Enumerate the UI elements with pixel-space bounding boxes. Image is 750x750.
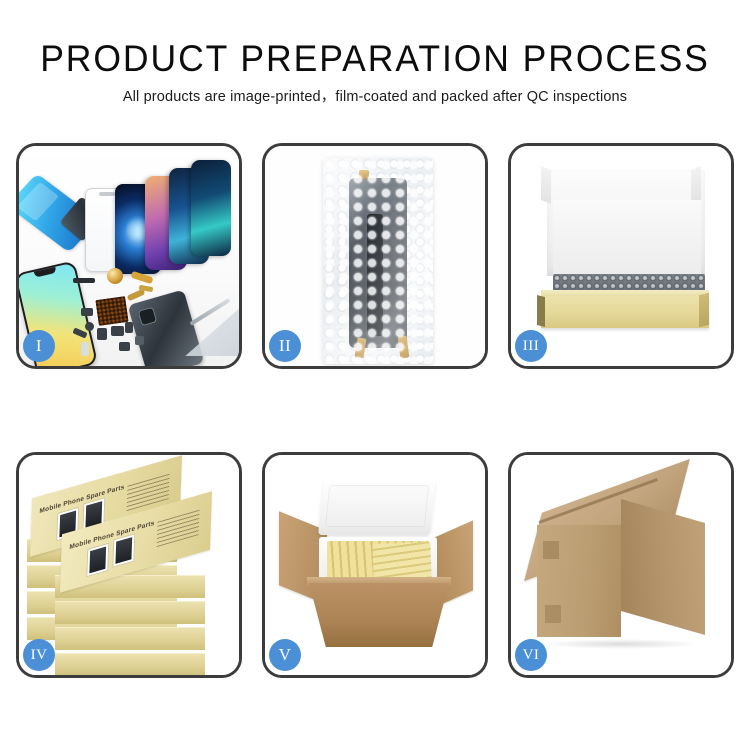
box-spec-lines <box>157 509 200 547</box>
teal-phone-icon <box>191 160 231 256</box>
foam-lid-right-edge <box>691 166 701 204</box>
product-preparation-infographic: PRODUCT PREPARATION PROCESS All products… <box>0 0 750 750</box>
box-label-text: Mobile Phone Spare Parts <box>39 484 124 515</box>
box-layer <box>55 653 205 675</box>
ic-chip-icon <box>95 296 128 326</box>
small-part-icon <box>81 308 93 316</box>
step-image-5 <box>265 455 485 675</box>
phone-parts-scene <box>19 146 239 366</box>
step-panel-1: I <box>16 143 242 369</box>
bubble-wrap-scene <box>265 146 485 366</box>
step-badge-3: III <box>515 330 547 362</box>
foam-back-panel <box>553 200 701 276</box>
sealed-carton-scene <box>511 455 731 675</box>
battery-connector-icon <box>73 278 95 283</box>
step-badge-6: VI <box>515 639 547 671</box>
carton-side-face <box>621 499 705 635</box>
step-badge-4: IV <box>23 639 55 671</box>
kraft-box-right-side <box>699 293 709 327</box>
small-part-icon <box>125 322 133 333</box>
small-part-icon <box>111 326 124 336</box>
carton-packing-scene <box>265 455 485 675</box>
box-stack: Mobile Phone Spare Parts Mobile Phone Sp… <box>25 477 239 667</box>
kraft-box-left-cap <box>537 295 545 327</box>
speaker-module-icon <box>107 268 123 284</box>
box-window-icon <box>86 543 109 578</box>
process-step-grid: I II <box>16 143 734 678</box>
plastic-sheen <box>323 158 433 364</box>
foam-cooler-lid <box>318 479 436 535</box>
carton-tape-upper <box>543 541 559 559</box>
step-image-6 <box>511 455 731 675</box>
box-window-icon <box>112 533 135 568</box>
sim-tray-icon <box>81 342 89 356</box>
box-layer <box>55 601 205 624</box>
step-badge-5: V <box>269 639 301 671</box>
page-title: PRODUCT PREPARATION PROCESS <box>15 0 735 77</box>
step-panel-2: II <box>262 143 488 369</box>
step-image-2 <box>265 146 485 366</box>
kraft-box-front <box>541 296 709 328</box>
step-image-4: Mobile Phone Spare Parts Mobile Phone Sp… <box>19 455 239 675</box>
foam-lid-left-edge <box>541 166 551 204</box>
step-panel-4: Mobile Phone Spare Parts Mobile Phone Sp… <box>16 452 242 678</box>
step-panel-6: VI <box>508 452 734 678</box>
step-badge-2: II <box>269 330 301 362</box>
stacked-boxes-scene: Mobile Phone Spare Parts Mobile Phone Sp… <box>19 455 239 675</box>
packed-boxes-row-2 <box>372 542 431 580</box>
small-part-icon <box>97 328 107 340</box>
step-panel-5: V <box>262 452 488 678</box>
small-part-icon <box>135 336 144 345</box>
carton-tape-lower <box>545 605 561 623</box>
small-part-icon <box>119 342 130 351</box>
carton-body <box>309 583 449 647</box>
small-part-icon <box>85 322 94 331</box>
page-subtitle: All products are image-printed，film-coat… <box>0 77 750 105</box>
open-inner-box-scene <box>511 146 731 366</box>
step-badge-1: I <box>23 330 55 362</box>
bubble-bag-icon <box>323 158 433 364</box>
carton-shadow <box>541 639 701 649</box>
step-image-1 <box>19 146 239 366</box>
step-panel-3: III <box>508 143 734 369</box>
step-image-3 <box>511 146 731 366</box>
header: PRODUCT PREPARATION PROCESS All products… <box>0 0 750 105</box>
box-layer <box>55 627 205 650</box>
